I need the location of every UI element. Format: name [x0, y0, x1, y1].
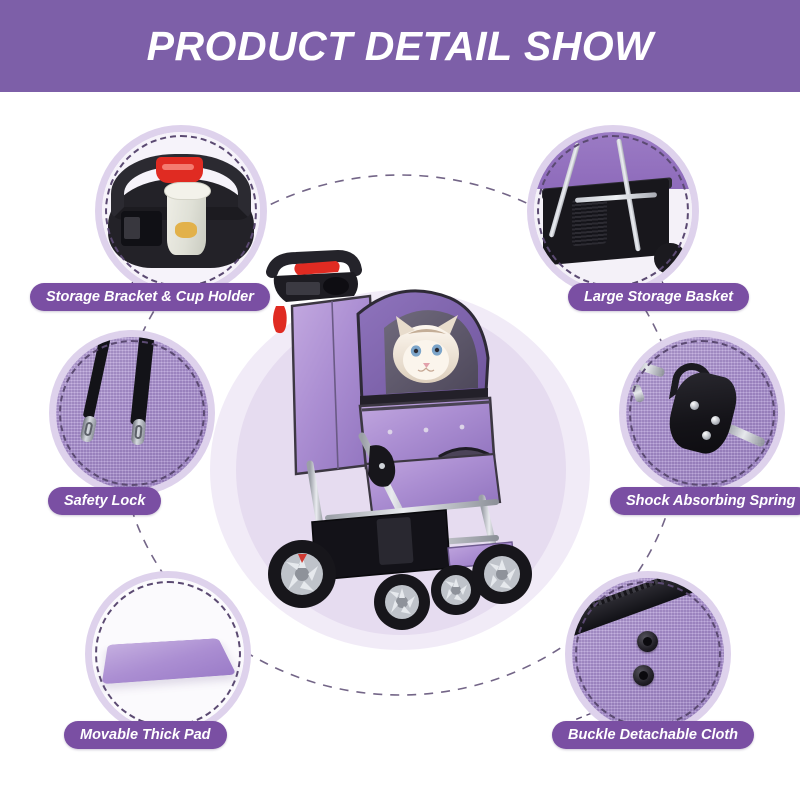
detail-circle-movable-thick-pad[interactable] [92, 578, 244, 730]
header-banner: PRODUCT DETAIL SHOW [0, 0, 800, 92]
label-large-storage-basket[interactable]: Large Storage Basket [568, 283, 749, 311]
label-shock-absorbing-spring[interactable]: Shock Absorbing Spring [610, 487, 800, 515]
photo-shock-absorbing-spring [626, 337, 778, 489]
stroller-cabin-stud-3 [460, 425, 465, 430]
photo-movable-thick-pad [92, 578, 244, 730]
stroller-basket-mesh [376, 517, 413, 565]
photo-safety-lock [56, 337, 208, 489]
photo-storage-bracket-cup-holder [102, 132, 260, 290]
page-title: PRODUCT DETAIL SHOW [0, 0, 800, 92]
label-buckle-detachable-cloth[interactable]: Buckle Detachable Cloth [552, 721, 754, 749]
label-movable-thick-pad[interactable]: Movable Thick Pad [64, 721, 227, 749]
stroller-tray-slot [286, 282, 320, 295]
detail-circle-large-storage-basket[interactable] [534, 132, 692, 290]
stroller-tray-cup-ring [323, 277, 349, 295]
detail-circle-shock-absorbing-spring[interactable] [626, 337, 778, 489]
stroller-wheel-rear-right [472, 544, 532, 604]
detail-circle-buckle-detachable-cloth[interactable] [572, 578, 724, 730]
label-storage-bracket-cup-holder[interactable]: Storage Bracket & Cup Holder [30, 283, 270, 311]
stroller-cabin-stud-2 [424, 428, 429, 433]
stroller-cabin-stud-1 [388, 430, 393, 435]
detail-circle-safety-lock[interactable] [56, 337, 208, 489]
stroller-wheel-front-left [374, 574, 430, 630]
stroller-wheel-rear-left [268, 540, 336, 608]
detail-circle-storage-bracket-cup-holder[interactable] [102, 132, 260, 290]
product-detail-page: PRODUCT DETAIL SHOW [0, 0, 800, 800]
cat-pupil-right [435, 348, 439, 352]
photo-buckle-detachable-cloth [572, 578, 724, 730]
stroller-red-latch-side [273, 306, 287, 333]
cat-face-mask [403, 340, 449, 380]
photo-large-storage-basket [534, 132, 692, 290]
pet-stroller-illustration [250, 250, 550, 640]
cat-pupil-left [414, 349, 418, 353]
stroller-hinge-rivet [379, 463, 385, 469]
cat-in-canopy [393, 315, 459, 383]
label-safety-lock[interactable]: Safety Lock [48, 487, 161, 515]
